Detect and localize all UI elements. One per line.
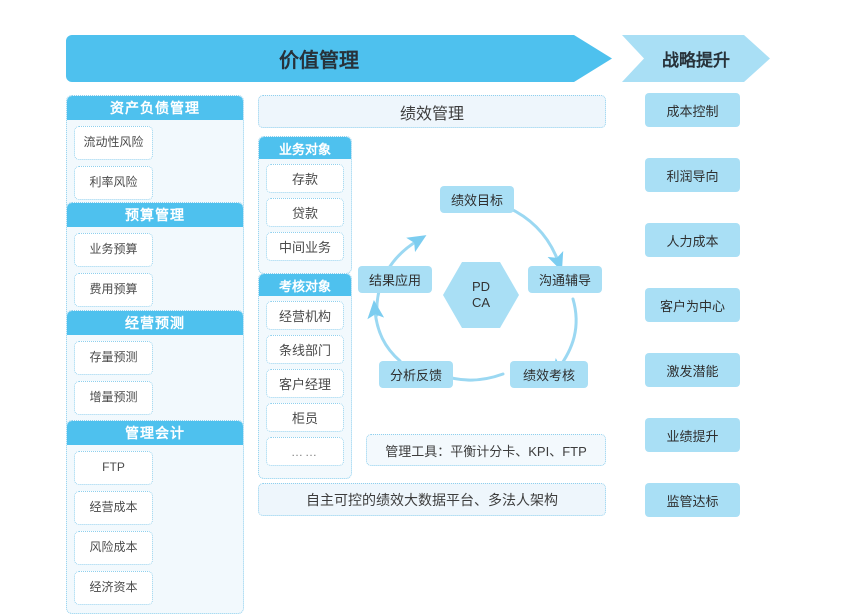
assessment-object-panel: 考核对象经营机构条线部门客户经理柜员…… [258, 273, 352, 479]
business-object-item[interactable]: 存款 [266, 164, 344, 193]
assessment-object-item-label: 柜员 [292, 408, 318, 427]
performance-management-title-label: 绩效管理 [400, 100, 464, 124]
pdca-node-label: 结果应用 [369, 270, 421, 289]
left-card-item[interactable]: 存量预测 [74, 341, 153, 375]
strategy-item[interactable]: 成本控制 [645, 93, 740, 127]
left-card-item[interactable]: 流动性风险 [74, 126, 153, 160]
performance-management-title: 绩效管理 [258, 95, 606, 128]
assessment-object-title: 考核对象 [259, 274, 351, 296]
pdca-node-label: 沟通辅导 [539, 270, 591, 289]
pdca-hexagon-line1: PD [472, 279, 490, 295]
management-tool-label: 管理工具：平衡计分卡、KPI、FTP [385, 441, 587, 460]
assessment-object-item[interactable]: 客户经理 [266, 369, 344, 398]
left-card-item-label: 存量预测 [89, 351, 137, 365]
pdca-node-label: 绩效考核 [523, 365, 575, 384]
strategy-item-label: 监管达标 [666, 491, 718, 510]
pdca-node-label: 绩效目标 [451, 190, 503, 209]
left-card-item-label: 业务预算 [89, 243, 137, 257]
strategy-item-label: 业绩提升 [666, 426, 718, 445]
left-card-3: 管理会计FTP经营成本风险成本经济资本 [66, 420, 244, 614]
strategy-item-label: 利润导向 [666, 166, 718, 185]
left-card-title: 预算管理 [67, 203, 243, 227]
assessment-object-item[interactable]: 条线部门 [266, 335, 344, 364]
strategy-item-label: 激发潜能 [666, 361, 718, 380]
strategy-item-label: 人力成本 [666, 231, 718, 250]
strategy-upgrade-banner-label: 战略提升 [662, 46, 730, 71]
left-card-item-label: 费用预算 [89, 283, 137, 297]
strategy-item-label: 客户为中心 [660, 296, 725, 315]
strategy-item-label: 成本控制 [666, 101, 718, 120]
left-card-items: FTP经营成本风险成本经济资本 [67, 451, 243, 605]
left-card-item[interactable]: 费用预算 [74, 273, 153, 307]
assessment-object-item[interactable]: …… [266, 437, 344, 466]
left-card-item[interactable]: 经济资本 [74, 571, 153, 605]
left-card-item-label: 经济资本 [89, 581, 137, 595]
left-card-item[interactable]: 增量预测 [74, 381, 153, 415]
business-object-item-label: 存款 [292, 169, 318, 188]
left-card-title: 管理会计 [67, 421, 243, 445]
left-card-item[interactable]: 经营成本 [74, 491, 153, 525]
strategy-item[interactable]: 利润导向 [645, 158, 740, 192]
strategy-item[interactable]: 人力成本 [645, 223, 740, 257]
strategy-item[interactable]: 激发潜能 [645, 353, 740, 387]
left-card-item[interactable]: 利率风险 [74, 166, 153, 200]
business-object-title: 业务对象 [259, 137, 351, 159]
management-tool-box: 管理工具：平衡计分卡、KPI、FTP [366, 434, 606, 466]
pdca-node[interactable]: 沟通辅导 [528, 266, 602, 293]
business-object-item-label: 中间业务 [279, 237, 331, 256]
left-card-item-label: 经营成本 [89, 501, 137, 515]
business-object-panel: 业务对象存款贷款中间业务 [258, 136, 352, 274]
value-management-banner-label: 价值管理 [279, 44, 359, 73]
business-object-item-label: 贷款 [292, 203, 318, 222]
assessment-object-item-label: 条线部门 [279, 340, 331, 359]
assessment-object-item[interactable]: 经营机构 [266, 301, 344, 330]
left-card-item-label: 利率风险 [89, 176, 137, 190]
business-object-item[interactable]: 贷款 [266, 198, 344, 227]
pdca-node[interactable]: 绩效目标 [440, 186, 514, 213]
pdca-node[interactable]: 结果应用 [358, 266, 432, 293]
strategy-item[interactable]: 监管达标 [645, 483, 740, 517]
left-card-item-label: 增量预测 [89, 391, 137, 405]
pdca-node[interactable]: 绩效考核 [510, 361, 588, 388]
pdca-hexagon-line2: CA [472, 295, 490, 311]
platform-label: 自主可控的绩效大数据平台、多法人架构 [306, 490, 558, 510]
left-card-item[interactable]: FTP [74, 451, 153, 485]
assessment-object-item-label: …… [291, 445, 319, 459]
left-card-title: 资产负债管理 [67, 96, 243, 120]
platform-box: 自主可控的绩效大数据平台、多法人架构 [258, 483, 606, 516]
pdca-node-label: 分析反馈 [390, 365, 442, 384]
assessment-object-item-label: 客户经理 [279, 374, 331, 393]
left-card-item[interactable]: 业务预算 [74, 233, 153, 267]
assessment-object-item-label: 经营机构 [279, 306, 331, 325]
left-card-item-label: 流动性风险 [83, 136, 143, 150]
left-card-item-label: FTP [102, 461, 125, 475]
left-card-item[interactable]: 风险成本 [74, 531, 153, 565]
left-card-title: 经营预测 [67, 311, 243, 335]
strategy-upgrade-banner: 战略提升 [622, 35, 770, 82]
pdca-node[interactable]: 分析反馈 [379, 361, 453, 388]
left-card-item-label: 风险成本 [89, 541, 137, 555]
business-object-item[interactable]: 中间业务 [266, 232, 344, 261]
strategy-item[interactable]: 业绩提升 [645, 418, 740, 452]
strategy-item[interactable]: 客户为中心 [645, 288, 740, 322]
assessment-object-item[interactable]: 柜员 [266, 403, 344, 432]
value-management-banner: 价值管理 [66, 35, 612, 82]
